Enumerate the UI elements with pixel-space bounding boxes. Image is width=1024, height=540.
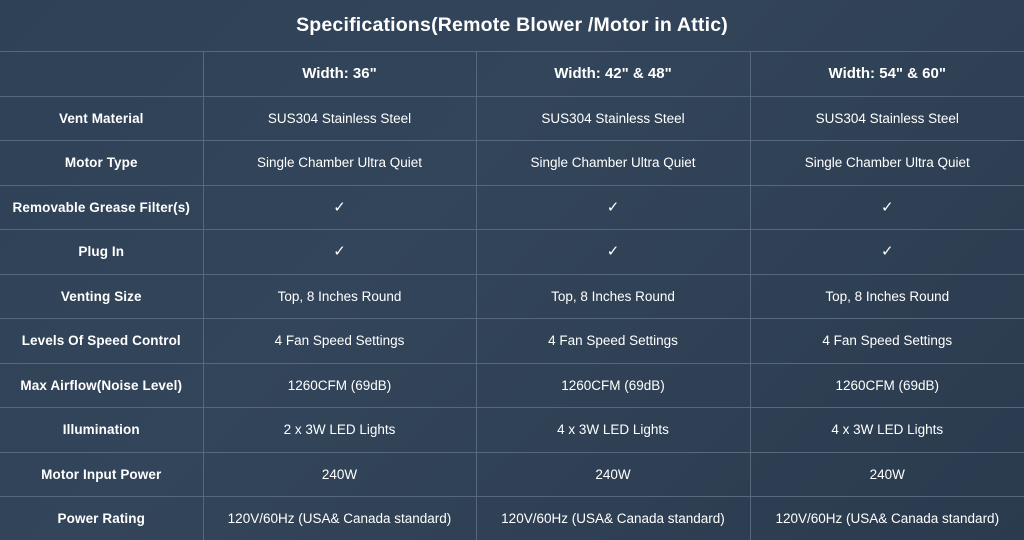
cell-motor-input-power-54-60: 240W: [750, 452, 1024, 497]
table-row: Motor Input Power 240W 240W 240W: [0, 452, 1024, 497]
table-title-row: Specifications(Remote Blower /Motor in A…: [0, 0, 1024, 51]
cell-motor-type-42-48: Single Chamber Ultra Quiet: [476, 141, 750, 186]
row-label-venting-size: Venting Size: [0, 274, 203, 319]
table-row: Motor Type Single Chamber Ultra Quiet Si…: [0, 141, 1024, 186]
cell-illumination-36: 2 x 3W LED Lights: [203, 408, 476, 453]
cell-power-rating-42-48: 120V/60Hz (USA& Canada standard): [476, 497, 750, 540]
row-label-max-airflow: Max Airflow(Noise Level): [0, 363, 203, 408]
specifications-panel: Specifications(Remote Blower /Motor in A…: [0, 0, 1024, 540]
cell-power-rating-36: 120V/60Hz (USA& Canada standard): [203, 497, 476, 540]
row-label-power-rating: Power Rating: [0, 497, 203, 540]
row-label-motor-input-power: Motor Input Power: [0, 452, 203, 497]
cell-vent-material-36: SUS304 Stainless Steel: [203, 96, 476, 141]
header-corner-cell: [0, 51, 203, 96]
cell-venting-size-42-48: Top, 8 Inches Round: [476, 274, 750, 319]
cell-motor-type-54-60: Single Chamber Ultra Quiet: [750, 141, 1024, 186]
row-label-levels-of-speed-control: Levels Of Speed Control: [0, 319, 203, 364]
cell-vent-material-54-60: SUS304 Stainless Steel: [750, 96, 1024, 141]
cell-max-airflow-42-48: 1260CFM (69dB): [476, 363, 750, 408]
table-row: Illumination 2 x 3W LED Lights 4 x 3W LE…: [0, 408, 1024, 453]
column-header-width-36: Width: 36": [203, 51, 476, 96]
cell-motor-input-power-36: 240W: [203, 452, 476, 497]
cell-levels-of-speed-control-42-48: 4 Fan Speed Settings: [476, 319, 750, 364]
cell-power-rating-54-60: 120V/60Hz (USA& Canada standard): [750, 497, 1024, 540]
table-row: Levels Of Speed Control 4 Fan Speed Sett…: [0, 319, 1024, 364]
table-row: Plug In ✓ ✓ ✓: [0, 230, 1024, 275]
cell-illumination-42-48: 4 x 3W LED Lights: [476, 408, 750, 453]
cell-plug-in-54-60: ✓: [750, 230, 1024, 275]
table-row: Power Rating 120V/60Hz (USA& Canada stan…: [0, 497, 1024, 540]
row-label-vent-material: Vent Material: [0, 96, 203, 141]
cell-illumination-54-60: 4 x 3W LED Lights: [750, 408, 1024, 453]
cell-removable-grease-filters-36: ✓: [203, 185, 476, 230]
page-title: Specifications(Remote Blower /Motor in A…: [0, 0, 1024, 51]
row-label-plug-in: Plug In: [0, 230, 203, 275]
cell-removable-grease-filters-54-60: ✓: [750, 185, 1024, 230]
cell-levels-of-speed-control-54-60: 4 Fan Speed Settings: [750, 319, 1024, 364]
cell-motor-input-power-42-48: 240W: [476, 452, 750, 497]
cell-removable-grease-filters-42-48: ✓: [476, 185, 750, 230]
table-header-row: Width: 36" Width: 42" & 48" Width: 54" &…: [0, 51, 1024, 96]
row-label-illumination: Illumination: [0, 408, 203, 453]
table-row: Venting Size Top, 8 Inches Round Top, 8 …: [0, 274, 1024, 319]
row-label-motor-type: Motor Type: [0, 141, 203, 186]
cell-levels-of-speed-control-36: 4 Fan Speed Settings: [203, 319, 476, 364]
cell-max-airflow-54-60: 1260CFM (69dB): [750, 363, 1024, 408]
cell-venting-size-54-60: Top, 8 Inches Round: [750, 274, 1024, 319]
column-header-width-42-48: Width: 42" & 48": [476, 51, 750, 96]
specifications-table: Specifications(Remote Blower /Motor in A…: [0, 0, 1024, 540]
cell-max-airflow-36: 1260CFM (69dB): [203, 363, 476, 408]
cell-vent-material-42-48: SUS304 Stainless Steel: [476, 96, 750, 141]
cell-plug-in-42-48: ✓: [476, 230, 750, 275]
table-row: Max Airflow(Noise Level) 1260CFM (69dB) …: [0, 363, 1024, 408]
column-header-width-54-60: Width: 54" & 60": [750, 51, 1024, 96]
cell-venting-size-36: Top, 8 Inches Round: [203, 274, 476, 319]
table-row: Vent Material SUS304 Stainless Steel SUS…: [0, 96, 1024, 141]
cell-plug-in-36: ✓: [203, 230, 476, 275]
cell-motor-type-36: Single Chamber Ultra Quiet: [203, 141, 476, 186]
table-row: Removable Grease Filter(s) ✓ ✓ ✓: [0, 185, 1024, 230]
row-label-removable-grease-filters: Removable Grease Filter(s): [0, 185, 203, 230]
